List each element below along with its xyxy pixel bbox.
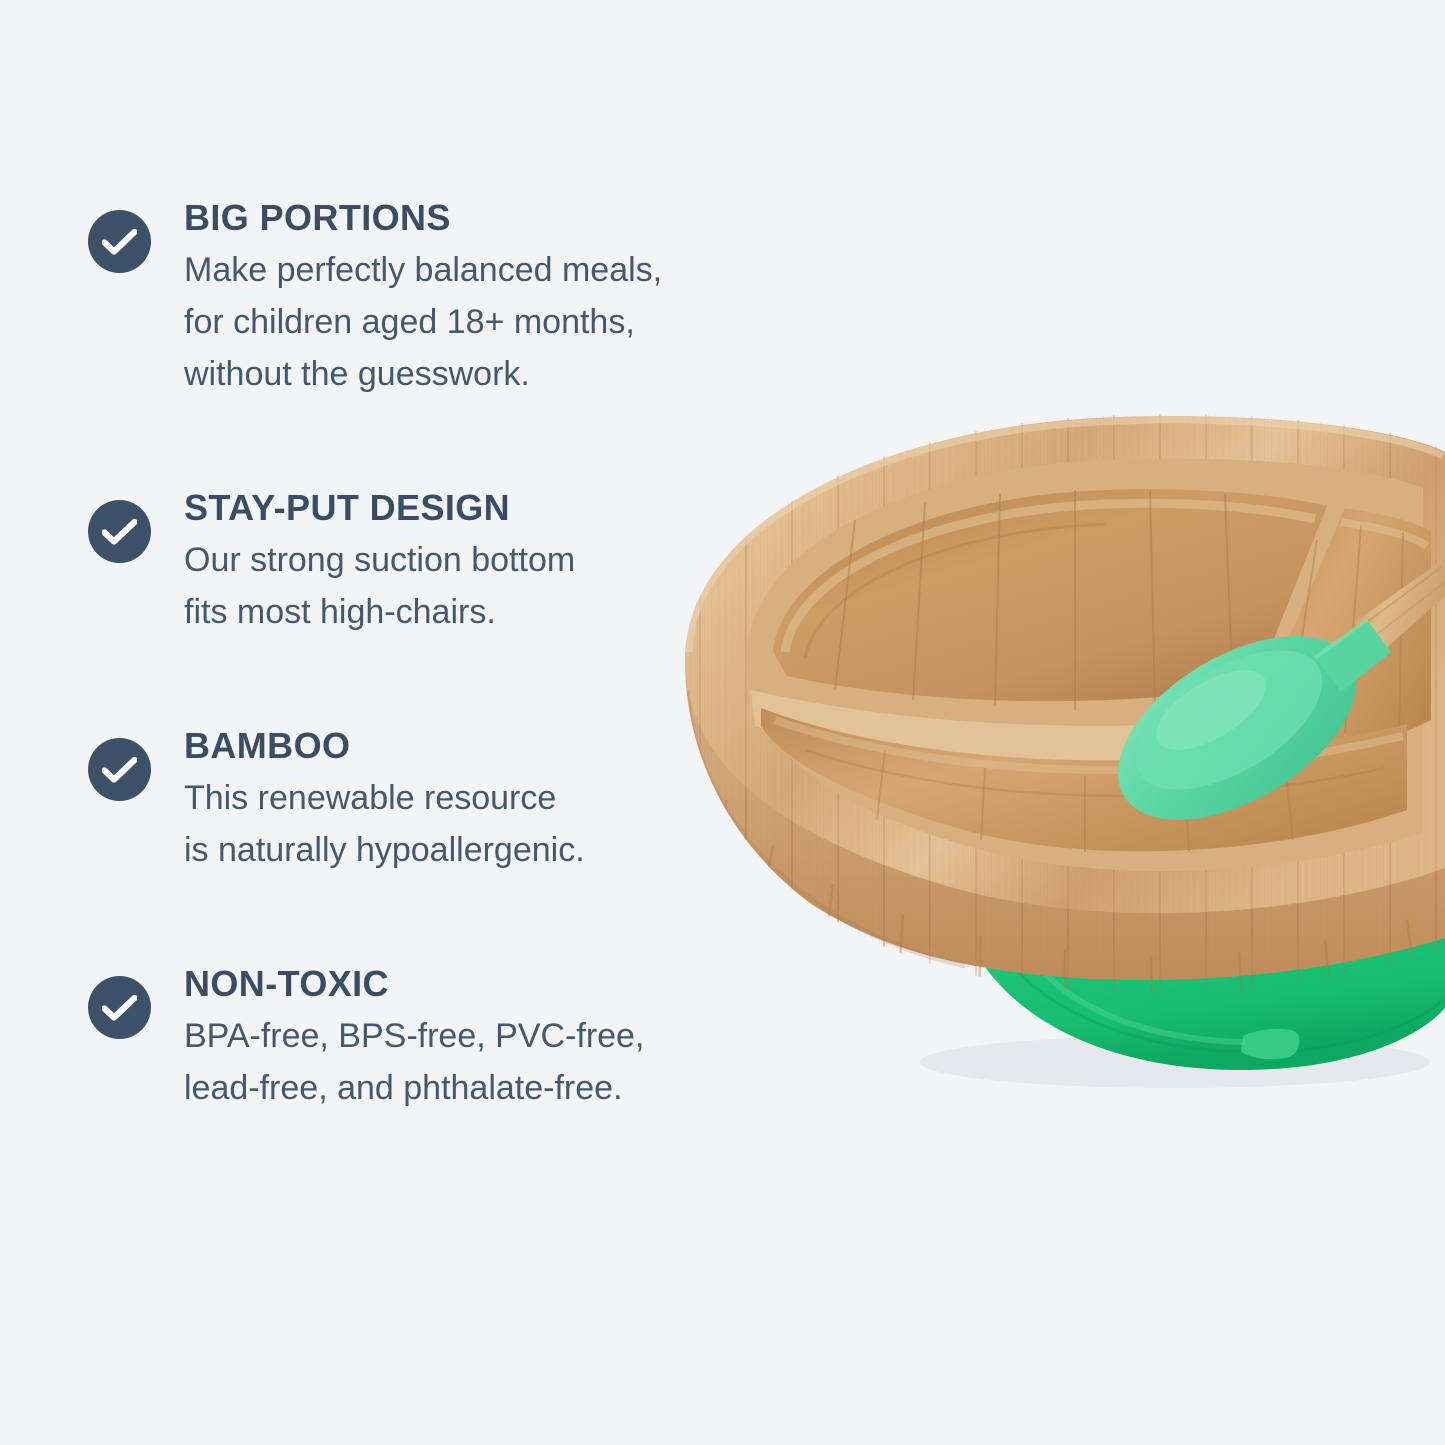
feature-body-line: lead-free, and phthalate-free. (184, 1062, 848, 1114)
feature-title: NON-TOXIC (184, 962, 848, 1006)
feature-body-line: without the guesswork. (184, 348, 848, 400)
feature-item-non-toxic: NON-TOXIC BPA-free, BPS-free, PVC-free, … (88, 962, 848, 1114)
feature-text: BIG PORTIONS Make perfectly balanced mea… (88, 196, 848, 400)
feature-body-line: Make perfectly balanced meals, (184, 244, 848, 296)
feature-text: BAMBOO This renewable resource is natura… (88, 724, 848, 876)
feature-body-line: fits most high-chairs. (184, 586, 848, 638)
feature-title: BIG PORTIONS (184, 196, 848, 240)
feature-body-line: This renewable resource (184, 772, 848, 824)
feature-body: Make perfectly balanced meals, for child… (184, 244, 848, 400)
feature-body-line: BPA-free, BPS-free, PVC-free, (184, 1010, 848, 1062)
feature-body-line: is naturally hypoallergenic. (184, 824, 848, 876)
feature-body: BPA-free, BPS-free, PVC-free, lead-free,… (184, 1010, 848, 1114)
feature-body-line: for children aged 18+ months, (184, 296, 848, 348)
feature-body-line: Our strong suction bottom (184, 534, 848, 586)
feature-text: STAY-PUT DESIGN Our strong suction botto… (88, 486, 848, 638)
feature-title: STAY-PUT DESIGN (184, 486, 848, 530)
feature-item-big-portions: BIG PORTIONS Make perfectly balanced mea… (88, 196, 848, 400)
suction-release-tab (1241, 1029, 1299, 1059)
feature-title: BAMBOO (184, 724, 848, 768)
check-circle-icon (88, 500, 151, 563)
check-circle-icon (88, 976, 151, 1039)
feature-body: This renewable resource is naturally hyp… (184, 772, 848, 876)
feature-item-bamboo: BAMBOO This renewable resource is natura… (88, 724, 848, 876)
feature-list: BIG PORTIONS Make perfectly balanced mea… (88, 196, 848, 1114)
feature-body: Our strong suction bottom fits most high… (184, 534, 848, 638)
check-circle-icon (88, 210, 151, 273)
feature-item-stay-put-design: STAY-PUT DESIGN Our strong suction botto… (88, 486, 848, 638)
check-circle-icon (88, 738, 151, 801)
feature-text: NON-TOXIC BPA-free, BPS-free, PVC-free, … (88, 962, 848, 1114)
